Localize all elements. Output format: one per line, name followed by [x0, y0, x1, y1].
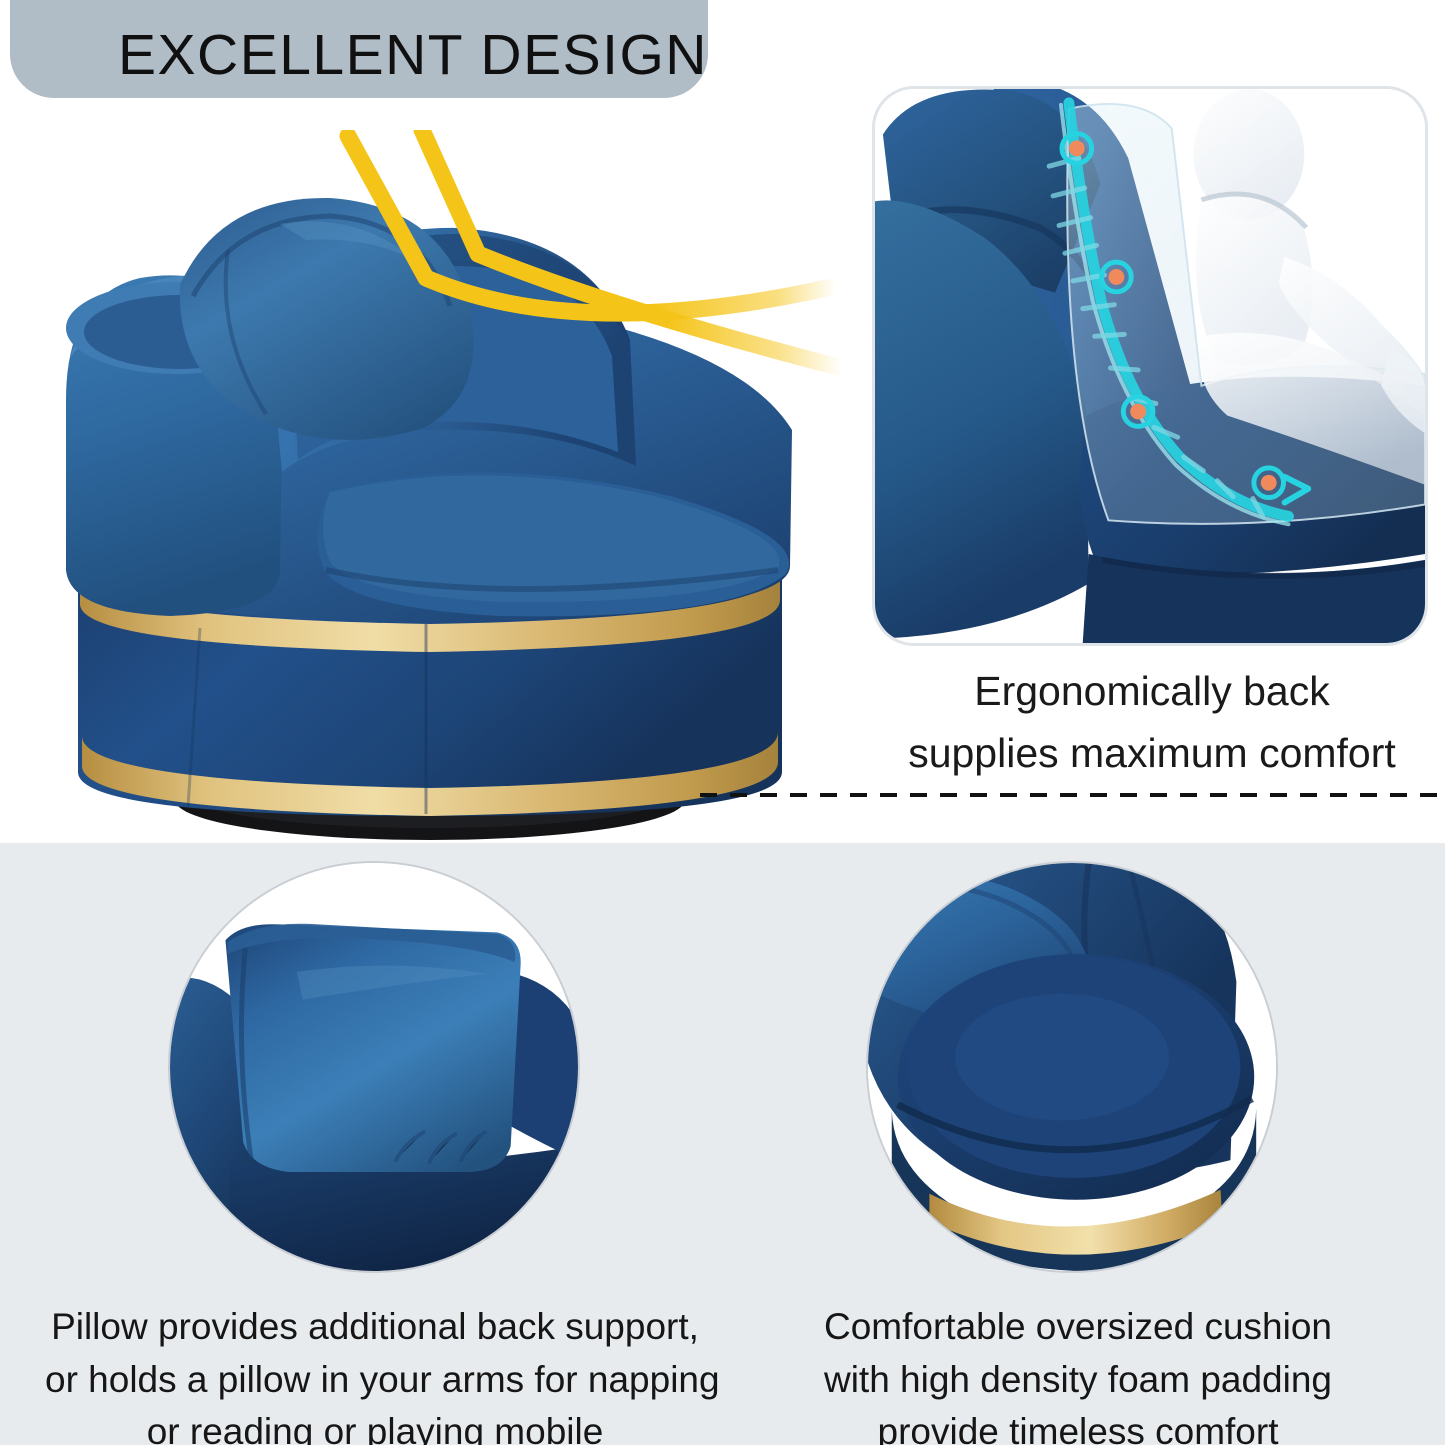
- page-title: EXCELLENT DESIGN: [118, 27, 708, 84]
- ergonomic-caption: Ergonomically back supplies maximum comf…: [872, 660, 1432, 785]
- ergonomic-caption-line-2: supplies maximum comfort: [872, 722, 1432, 784]
- cushion-caption-line-1: Comfortable oversized cushion: [748, 1301, 1408, 1354]
- cushion-caption: Comfortable oversized cushion with high …: [748, 1301, 1408, 1445]
- header-banner: EXCELLENT DESIGN: [10, 0, 708, 98]
- ergonomic-caption-line-1: Ergonomically back: [872, 660, 1432, 722]
- cushion-caption-line-3: provide timeless comfort: [748, 1406, 1408, 1445]
- hero-chair-image: [30, 100, 820, 840]
- dashed-divider: [700, 793, 1445, 797]
- pillow-caption-line-3: or reading or playing mobile: [45, 1406, 705, 1445]
- bottom-feature-section: Pillow provides additional back support,…: [0, 843, 1445, 1445]
- pillow-detail-image: [168, 861, 580, 1273]
- ergonomic-support-image: [872, 86, 1428, 646]
- cushion-caption-line-2: with high density foam padding: [748, 1354, 1408, 1407]
- pillow-caption-line-2: or holds a pillow in your arms for nappi…: [45, 1354, 705, 1407]
- cushion-detail-image: [866, 861, 1278, 1273]
- pillow-caption: Pillow provides additional back support,…: [45, 1301, 705, 1445]
- pillow-caption-line-1: Pillow provides additional back support,: [45, 1301, 705, 1354]
- top-feature-section: EXCELLENT DESIGN: [0, 0, 1445, 843]
